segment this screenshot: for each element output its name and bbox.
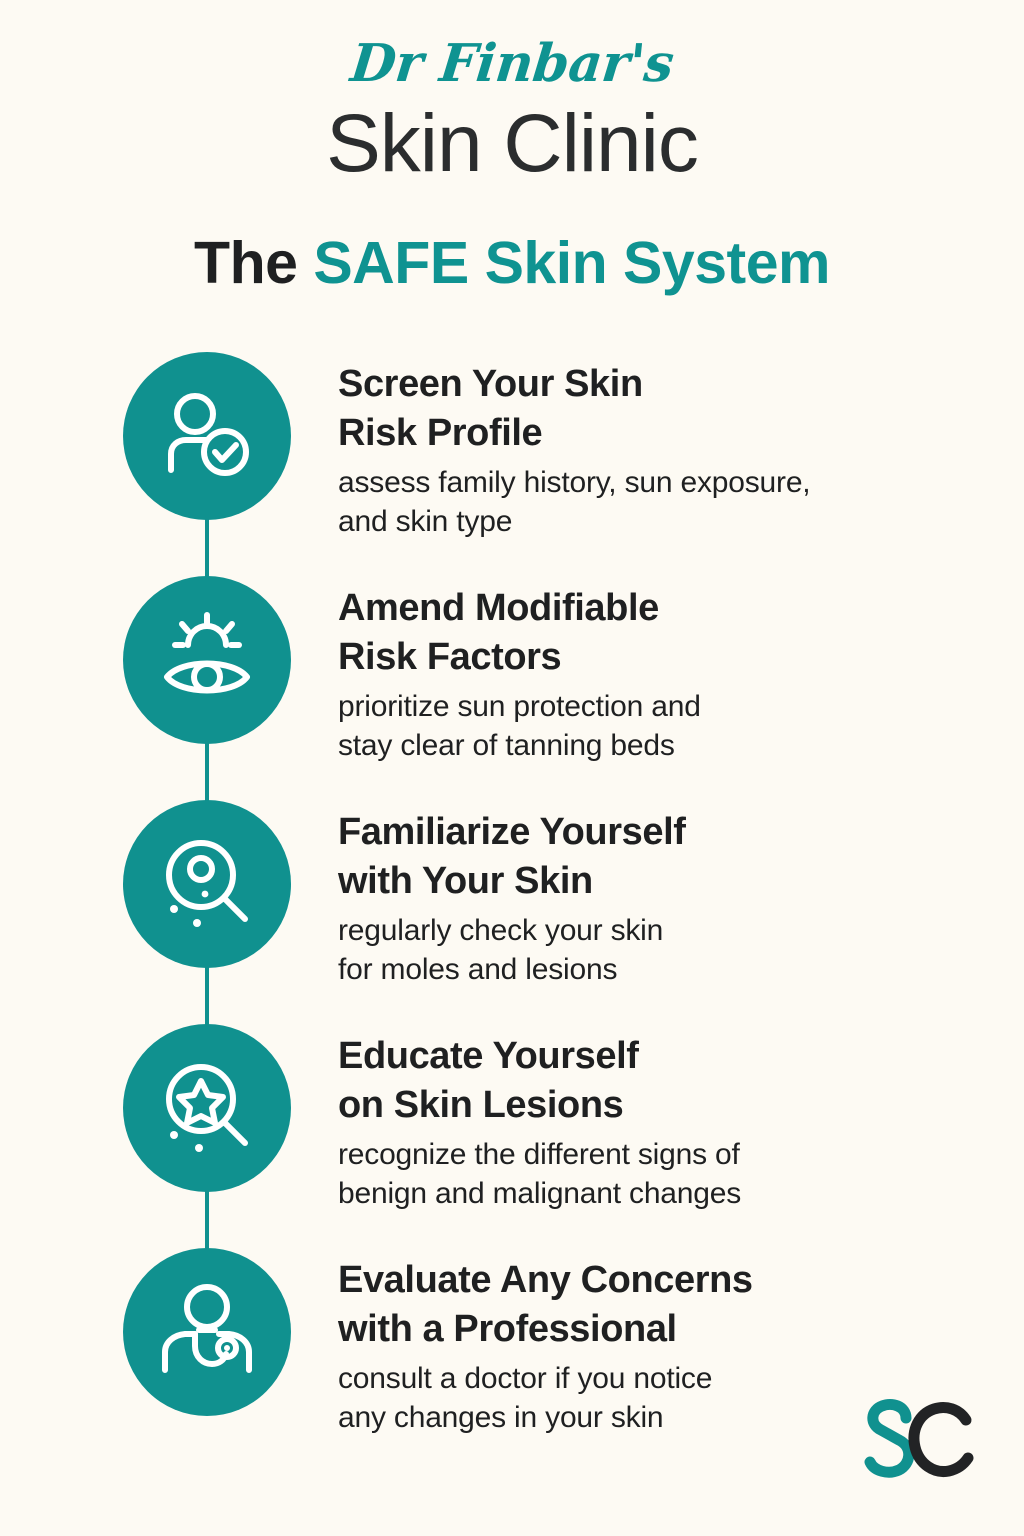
step-description: regularly check your skin for moles and … <box>338 911 1008 989</box>
magnifier-star-icon <box>155 1056 259 1160</box>
step-heading: Familiarize Yourself with Your Skin <box>338 808 1008 907</box>
page-title: The SAFE Skin System <box>0 234 1024 293</box>
infographic-page: Dr Finbar's Skin Clinic The SAFE Skin Sy… <box>0 0 1024 1536</box>
step-icon-badge <box>123 576 291 744</box>
list-item: Educate Yourself on Skin Lesions recogni… <box>0 1024 1024 1248</box>
step-content: Amend Modifiable Risk Factors prioritize… <box>338 584 1008 765</box>
sc-monogram-logo <box>854 1392 980 1500</box>
clinic-logo: Dr Finbar's Skin Clinic <box>0 38 1024 193</box>
step-connector-line <box>205 736 209 806</box>
step-connector-line <box>205 960 209 1030</box>
step-heading: Screen Your Skin Risk Profile <box>338 360 1008 459</box>
step-connector-line <box>205 512 209 582</box>
list-item: Familiarize Yourself with Your Skin regu… <box>0 800 1024 1024</box>
list-item: Amend Modifiable Risk Factors prioritize… <box>0 576 1024 800</box>
step-description: recognize the different signs of benign … <box>338 1135 1008 1213</box>
doctor-stethoscope-icon <box>155 1280 259 1384</box>
step-content: Screen Your Skin Risk Profile assess fam… <box>338 360 1008 541</box>
step-heading: Educate Yourself on Skin Lesions <box>338 1032 1008 1131</box>
person-check-icon <box>155 384 259 488</box>
step-heading: Evaluate Any Concerns with a Professiona… <box>338 1256 1008 1355</box>
step-icon-badge <box>123 1024 291 1192</box>
sun-eye-icon <box>155 608 259 712</box>
step-content: Familiarize Yourself with Your Skin regu… <box>338 808 1008 989</box>
magnifier-mole-icon <box>155 832 259 936</box>
step-icon-badge <box>123 1248 291 1416</box>
step-heading: Amend Modifiable Risk Factors <box>338 584 1008 683</box>
logo-script-name: Dr Finbar's <box>0 38 1024 90</box>
page-title-prefix: The <box>194 230 313 296</box>
page-title-highlight: SAFE Skin System <box>313 230 830 296</box>
step-description: prioritize sun protection and stay clear… <box>338 687 1008 765</box>
step-icon-badge <box>123 352 291 520</box>
list-item: Screen Your Skin Risk Profile assess fam… <box>0 352 1024 576</box>
step-connector-line <box>205 1184 209 1254</box>
step-content: Educate Yourself on Skin Lesions recogni… <box>338 1032 1008 1213</box>
safe-steps-list: Screen Your Skin Risk Profile assess fam… <box>0 352 1024 1448</box>
step-description: assess family history, sun exposure, and… <box>338 463 1008 541</box>
logo-clinic-name: Skin Clinic <box>0 96 1024 193</box>
step-icon-badge <box>123 800 291 968</box>
